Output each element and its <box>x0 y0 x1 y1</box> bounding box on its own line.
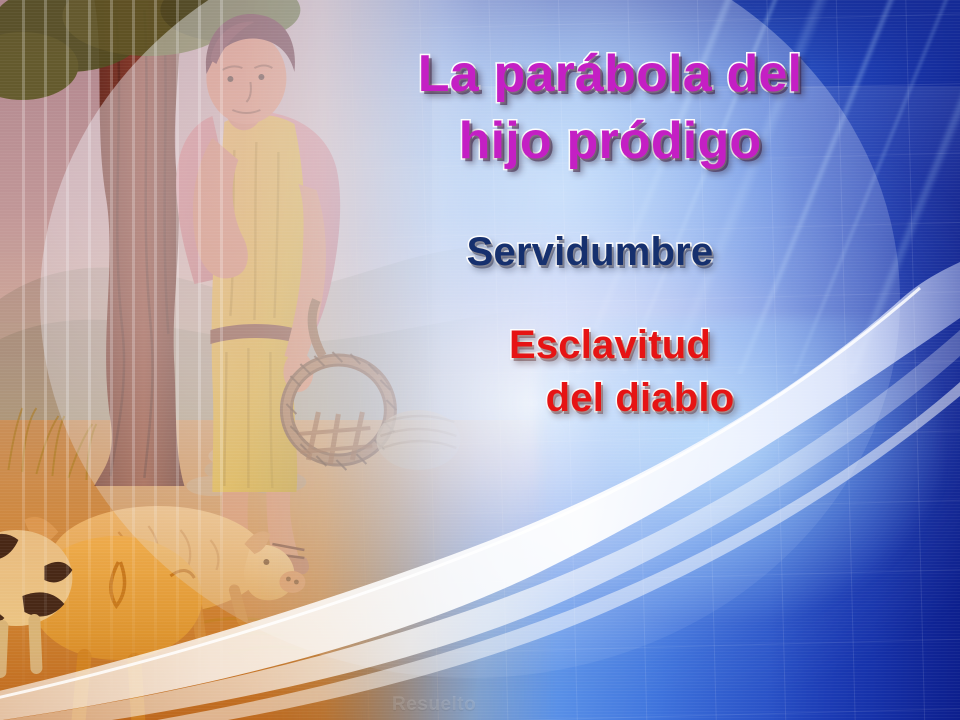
slide-title-line-2: hijo pródigo <box>400 115 820 168</box>
subtitle-esclavitud-line-1: Esclavitud <box>440 325 780 366</box>
watermark-text: Resuelto <box>392 694 476 716</box>
presentation-slide: La parábola del hijo pródigo Servidumbre… <box>0 0 960 720</box>
slide-text-layer: La parábola del hijo pródigo Servidumbre… <box>0 0 960 720</box>
subtitle-esclavitud-line-2: del diablo <box>470 378 810 419</box>
slide-title-line-1: La parábola del <box>400 48 820 101</box>
subtitle-servidumbre: Servidumbre <box>420 232 760 273</box>
